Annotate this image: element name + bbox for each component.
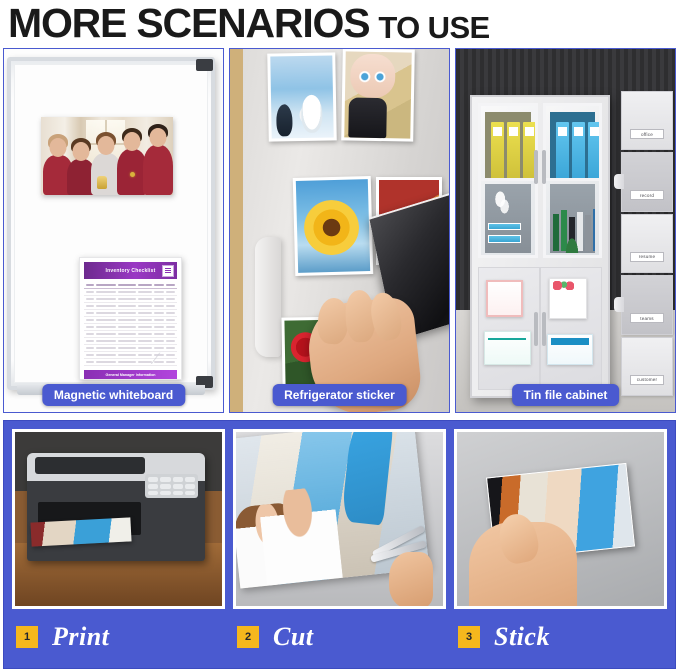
step-label: Print (52, 622, 109, 652)
step-number-badge: 3 (458, 626, 480, 648)
decorative-seahorse-icon (493, 188, 511, 216)
shelf-bottom (550, 184, 596, 254)
table-row (84, 345, 177, 352)
drawer-pull-handle[interactable] (614, 297, 624, 312)
magnetic-note-blue (547, 334, 593, 365)
drawer-label: customer (630, 375, 664, 385)
step-print-footer: 1 Print (12, 622, 225, 652)
table-row (84, 317, 177, 324)
step-label: Stick (494, 622, 550, 652)
step-cut-image (233, 429, 446, 609)
photo-doll (341, 48, 415, 141)
lower-door-left[interactable] (478, 267, 540, 390)
cabinet-lower-doors (478, 267, 602, 390)
step-print-image (12, 429, 225, 609)
page-title: MORE SCENARIOS TO USE (0, 0, 679, 44)
drawer-stack: office record resume teams customer (621, 91, 673, 396)
step-number-badge: 2 (237, 626, 259, 648)
magnetic-note-pink (486, 280, 523, 316)
drawer-label: resume (630, 252, 664, 262)
cabinet-glass-doors (478, 103, 602, 258)
refrigerator-handle (255, 237, 281, 357)
shelf-divider (481, 178, 535, 181)
scene-label-refrigerator-sticker: Refrigerator sticker (272, 384, 407, 406)
photo-penguin (267, 52, 337, 141)
scissors (340, 505, 435, 602)
drawer-office[interactable]: office (621, 91, 673, 150)
checklist-logo-icon (162, 265, 174, 277)
scenes-row: Inventory Checklist (0, 48, 679, 413)
step-cut-footer: 2 Cut (233, 622, 446, 652)
step-stick-image (454, 429, 667, 609)
photo-man (257, 485, 342, 585)
drawer-label: teams (630, 313, 664, 323)
drawer-label: office (630, 129, 664, 139)
shelf-top (485, 112, 531, 181)
checklist-title: Inventory Checklist (106, 268, 156, 274)
photo-person (143, 145, 173, 195)
whiteboard: Inventory Checklist (7, 57, 215, 390)
steps-row: 1 Print 2 Cut (3, 420, 676, 669)
checklist-header: Inventory Checklist (84, 262, 177, 279)
hand-holding-scissors (389, 552, 433, 609)
scene-tin-file-cabinet: office record resume teams customer Tin … (455, 48, 676, 413)
table-row (84, 331, 177, 338)
step-print: 1 Print (12, 429, 225, 660)
printed-photo (30, 517, 131, 546)
title-main-text: MORE SCENARIOS (8, 3, 369, 44)
table-row (84, 310, 177, 317)
step-label: Cut (273, 622, 314, 652)
cabinet-door-handles[interactable] (534, 150, 546, 184)
drawer-teams[interactable]: teams (621, 275, 673, 334)
drawer-resume[interactable]: resume (621, 214, 673, 273)
glass-door-left[interactable] (478, 103, 538, 258)
drawer-label: record (630, 190, 664, 200)
checklist-subheader: General Manager Information (84, 370, 177, 379)
photo-trophy (97, 176, 107, 189)
shelf-bottom (485, 184, 531, 254)
scene-label-tin-file-cabinet: Tin file cabinet (512, 384, 620, 406)
lower-door-handles[interactable] (534, 312, 546, 346)
team-photo (41, 117, 173, 195)
file-cabinet (470, 95, 610, 398)
glass-door-right[interactable] (543, 103, 603, 258)
shelf-top (550, 112, 596, 181)
infographic-page: MORE SCENARIOS TO USE (0, 0, 679, 672)
magnetic-note-teal (484, 331, 531, 365)
table-row (84, 296, 177, 303)
table-row (84, 324, 177, 331)
drawer-record[interactable]: record (621, 152, 673, 211)
photo-sunflower (293, 176, 374, 276)
shelf-divider (546, 178, 600, 181)
checklist-subtitle: General Manager Information (106, 373, 156, 377)
step-cut: 2 Cut (233, 429, 446, 660)
inventory-checklist-document: Inventory Checklist (79, 257, 182, 380)
lower-door-right[interactable] (540, 267, 602, 390)
whiteboard-corner-cap (196, 59, 213, 71)
scene-refrigerator-sticker: Refrigerator sticker (229, 48, 450, 413)
table-row (84, 303, 177, 310)
drawer-pull-handle[interactable] (614, 174, 624, 189)
hand-holding-photo (469, 522, 577, 609)
table-row (84, 338, 177, 345)
scene-magnetic-whiteboard: Inventory Checklist (3, 48, 224, 413)
magnetic-note-floral (549, 278, 586, 319)
table-header-row (84, 282, 177, 289)
printer-control-panel[interactable] (145, 474, 198, 498)
title-sub-text: TO USE (378, 12, 489, 43)
printer-lid (35, 457, 145, 474)
finger (317, 297, 350, 345)
step-number-badge: 1 (16, 626, 38, 648)
scene-label-magnetic-whiteboard: Magnetic whiteboard (42, 384, 185, 406)
step-stick-footer: 3 Stick (454, 622, 667, 652)
step-stick: 3 Stick (454, 429, 667, 660)
drawer-customer[interactable]: customer (621, 337, 673, 396)
printer (27, 453, 205, 561)
potted-plant (561, 226, 583, 254)
table-row (84, 289, 177, 296)
